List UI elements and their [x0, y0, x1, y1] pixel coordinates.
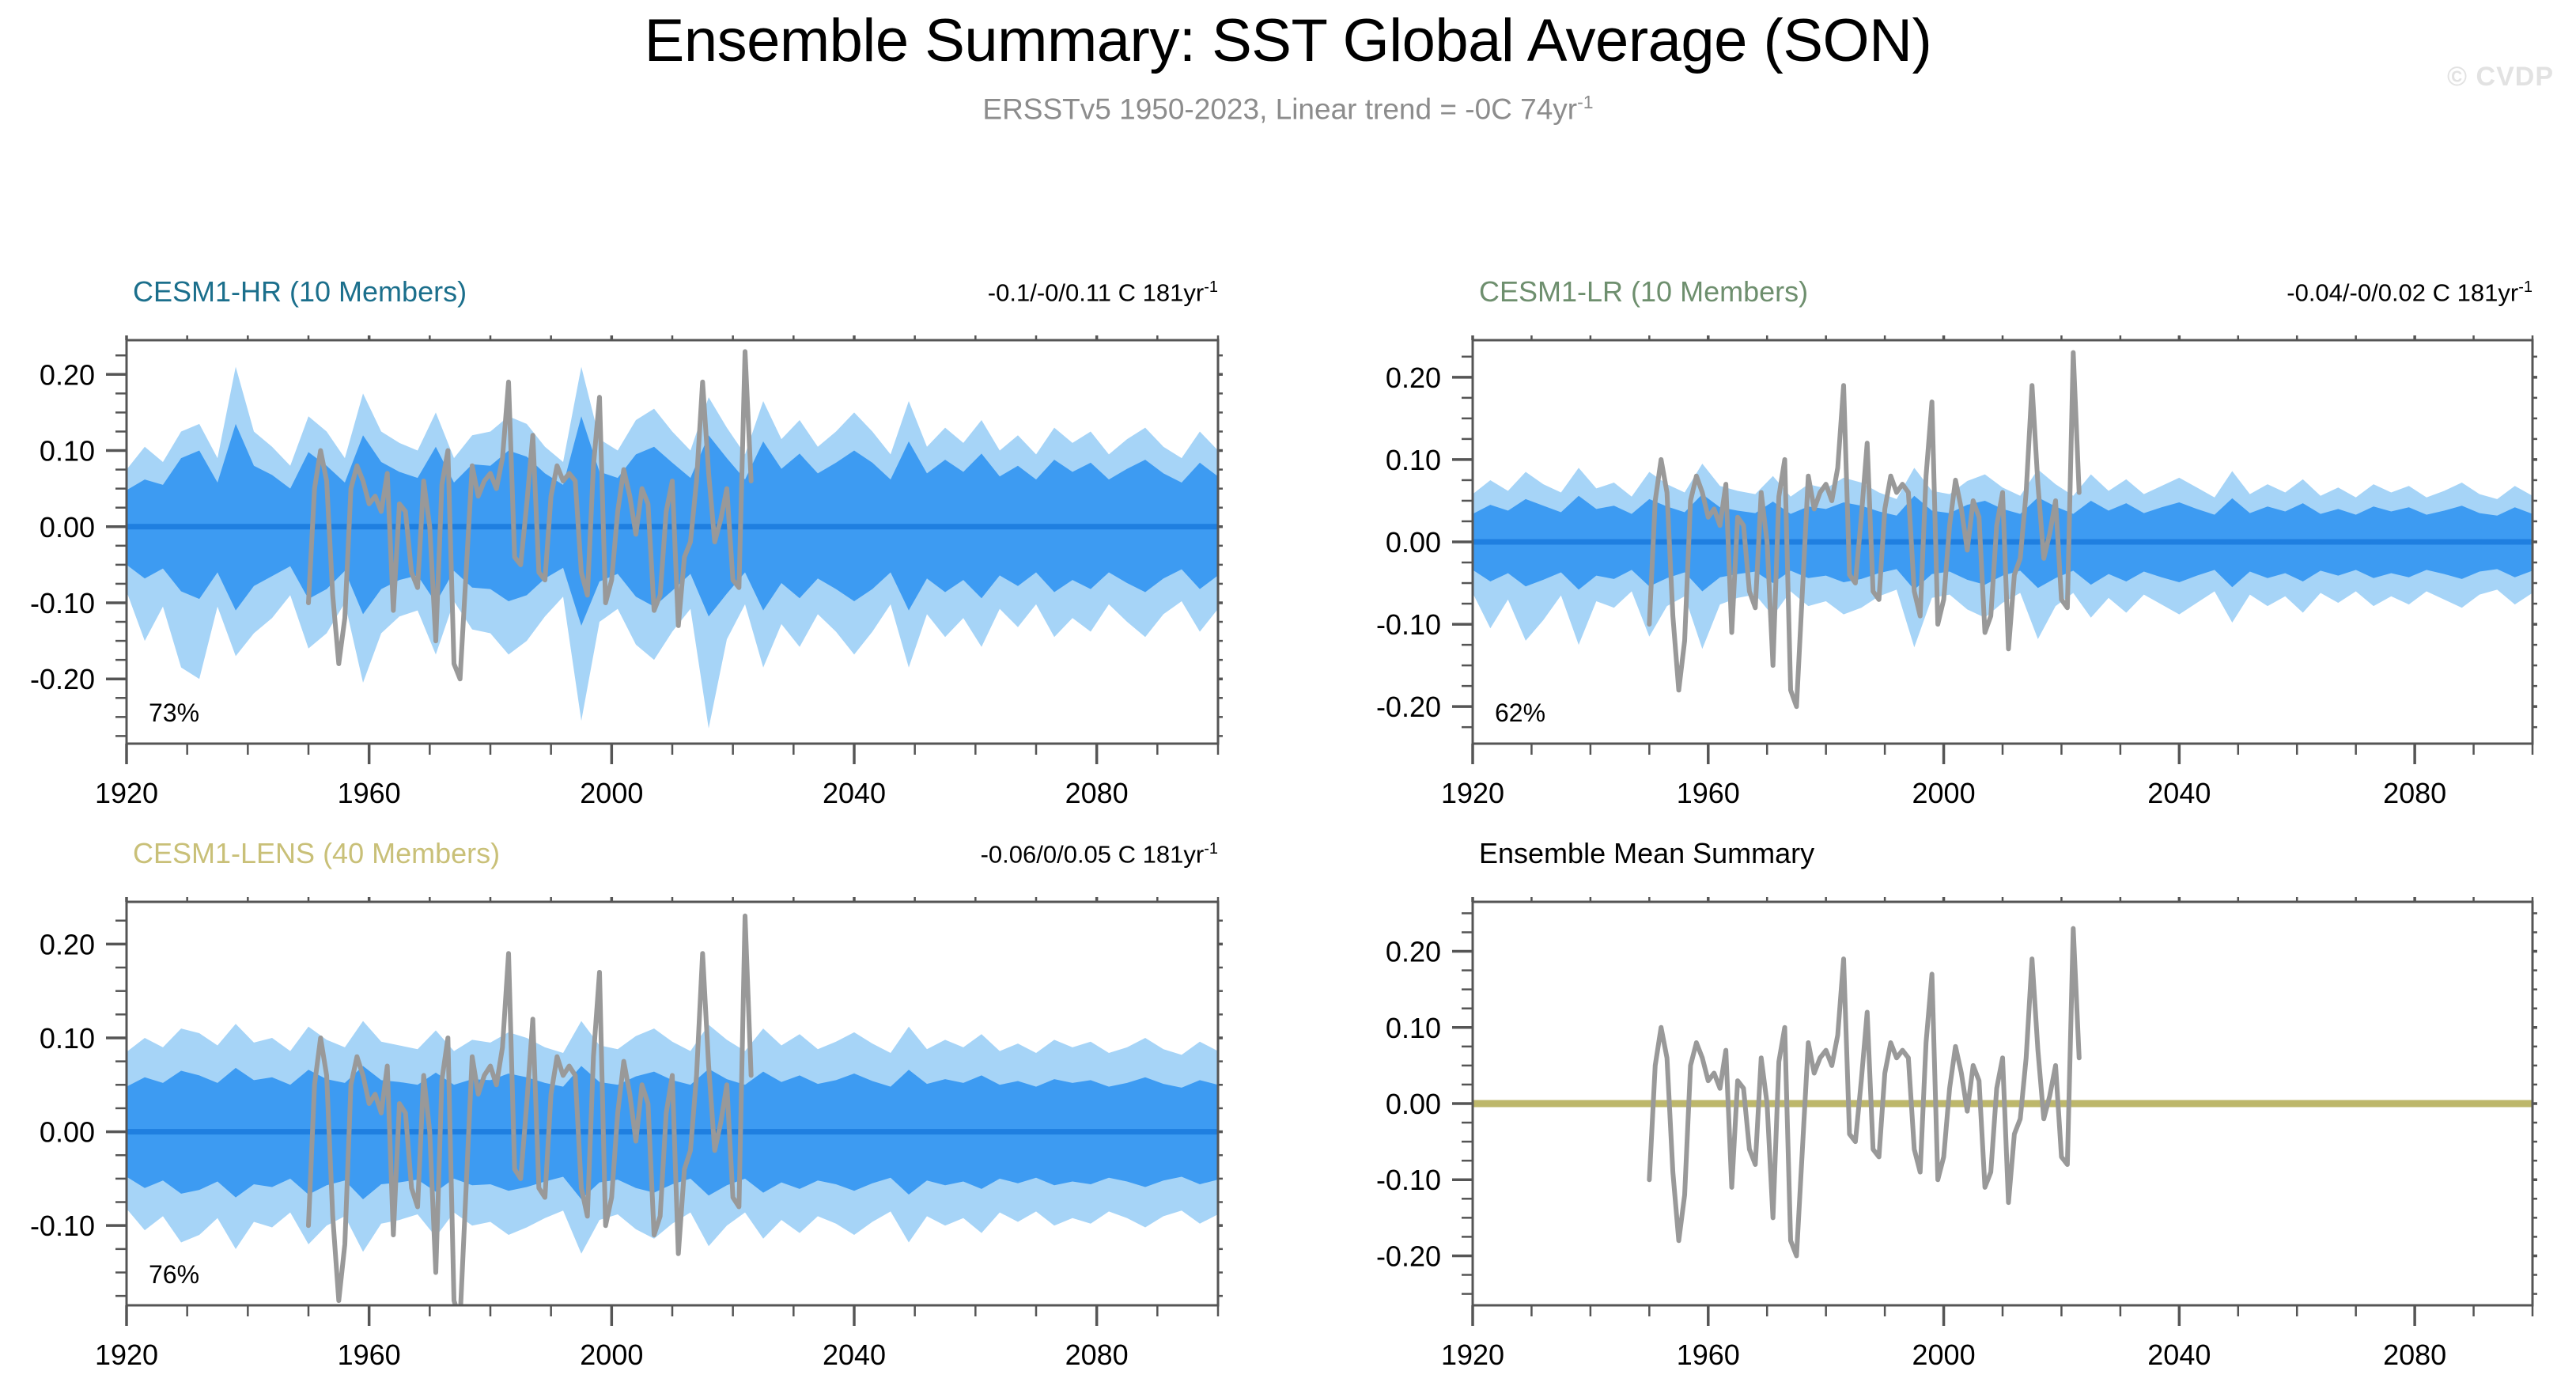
trend-superscript: -1 [2518, 278, 2532, 296]
y-tick-label: 0.10 [1386, 1012, 1441, 1044]
y-tick-label: 0.20 [40, 928, 95, 960]
trend-value: -0.04/-0/0.02 C 181yr [2287, 278, 2518, 306]
percent-label: 62% [1495, 699, 1545, 727]
x-tick-label: 1960 [338, 777, 401, 809]
y-tick-label: 0.20 [1386, 936, 1441, 968]
trend-value: -0.1/-0/0.11 C 181yr [988, 278, 1204, 306]
trend-value: -0.06/0/0.05 C 181yr [981, 840, 1205, 868]
y-tick-label: 0.00 [1386, 1088, 1441, 1120]
x-tick-label: 2000 [1912, 777, 1976, 809]
y-tick-label: -0.10 [1376, 1164, 1441, 1196]
x-tick-label: 1920 [1441, 1339, 1504, 1371]
percent-label: 76% [149, 1260, 199, 1289]
x-tick-label: 2040 [823, 777, 886, 809]
y-tick-label: 0.00 [40, 511, 95, 543]
x-tick-label: 2000 [1912, 1339, 1976, 1371]
y-tick-label: -0.20 [30, 663, 95, 695]
panel-title-cesm1-hr: CESM1-HR (10 Members) [133, 275, 467, 309]
y-tick-label: 0.00 [40, 1116, 95, 1149]
panel-trend-cesm1-lens: -0.06/0/0.05 C 181yr-1 [664, 840, 1218, 869]
panel-title-cesm1-lr: CESM1-LR (10 Members) [1479, 275, 1808, 309]
y-tick-label: -0.20 [1376, 691, 1441, 723]
figure-canvas: Ensemble Summary: SST Global Average (SO… [0, 0, 2576, 1386]
x-tick-label: 1920 [95, 1339, 158, 1371]
y-tick-label: 0.00 [1386, 526, 1441, 559]
plot-cesm1-lr: 19201960200020402080-0.20-0.100.000.100.… [1354, 335, 2537, 819]
trend-superscript: -1 [1204, 840, 1218, 858]
y-tick-label: -0.20 [1376, 1240, 1441, 1272]
cvdp-watermark: © CVDP [2447, 62, 2554, 93]
x-tick-label: 1920 [95, 777, 158, 809]
panel-title-cesm1-lens: CESM1-LENS (40 Members) [133, 837, 500, 870]
x-tick-label: 1960 [1677, 777, 1740, 809]
plot-cesm1-hr: 19201960200020402080-0.20-0.100.000.100.… [8, 335, 1223, 819]
x-tick-label: 2040 [823, 1339, 886, 1371]
x-tick-label: 1920 [1441, 777, 1504, 809]
x-tick-label: 1960 [1677, 1339, 1740, 1371]
x-tick-label: 2080 [2383, 777, 2446, 809]
panel-trend-cesm1-hr: -0.1/-0/0.11 C 181yr-1 [664, 278, 1218, 307]
x-tick-label: 2080 [2383, 1339, 2446, 1371]
y-tick-label: -0.10 [30, 587, 95, 619]
x-tick-label: 2040 [2147, 777, 2211, 809]
x-tick-label: 2080 [1065, 1339, 1129, 1371]
subtitle-text: ERSSTv5 1950-2023, Linear trend = -0C 74… [982, 93, 1577, 125]
page-subtitle: ERSSTv5 1950-2023, Linear trend = -0C 74… [0, 92, 2576, 126]
y-tick-label: 0.20 [1386, 362, 1441, 394]
x-tick-label: 2040 [2147, 1339, 2211, 1371]
x-tick-label: 2080 [1065, 777, 1129, 809]
plot-cesm1-lens: 19201960200020402080-0.100.000.100.2076% [8, 897, 1223, 1380]
x-tick-label: 2000 [580, 777, 643, 809]
y-tick-label: 0.20 [40, 358, 95, 391]
y-tick-label: 0.10 [40, 1022, 95, 1055]
percent-label: 73% [149, 699, 199, 727]
x-tick-label: 2000 [580, 1339, 643, 1371]
page-title: Ensemble Summary: SST Global Average (SO… [0, 6, 2576, 75]
y-tick-label: 0.10 [40, 435, 95, 468]
trend-superscript: -1 [1204, 278, 1218, 296]
y-tick-label: -0.10 [1376, 608, 1441, 641]
y-tick-label: 0.10 [1386, 444, 1441, 476]
plot-ensemble-mean-summary: 19201960200020402080-0.20-0.100.000.100.… [1354, 897, 2537, 1380]
panel-title-ensemble-mean-summary: Ensemble Mean Summary [1479, 837, 1814, 870]
observations-line [1649, 929, 2079, 1256]
panel-trend-cesm1-lr: -0.04/-0/0.02 C 181yr-1 [1979, 278, 2532, 307]
x-tick-label: 1960 [338, 1339, 401, 1371]
subtitle-superscript: -1 [1577, 92, 1593, 112]
y-tick-label: -0.10 [30, 1210, 95, 1242]
